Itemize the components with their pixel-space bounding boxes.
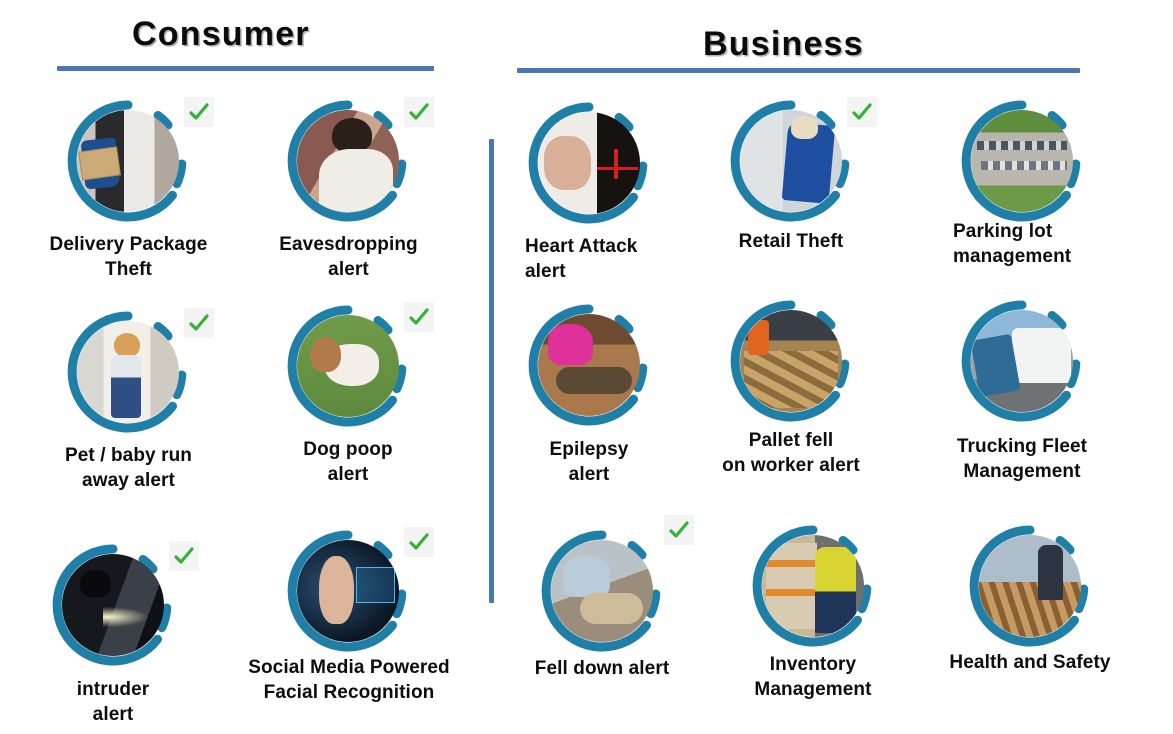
tile-label: intruder alert [38,677,188,727]
pallet-photo [740,310,842,412]
tile-label: Inventory Management [718,652,908,702]
tile-label: Heart Attack alert [525,234,700,284]
tile-dog-poop-alert[interactable]: Dog poop alert [286,304,410,428]
badge-wrap [286,99,410,223]
tile-label: Pet / baby run away alert [36,443,221,493]
tile-label: Eavesdropping alert [261,232,436,282]
heart-attack-photo [538,112,640,214]
badge-wrap [540,529,664,653]
badge-wrap [51,543,175,667]
check-icon [404,527,434,557]
tile-label: Health and Safety [916,650,1144,675]
badge-wrap [968,524,1092,648]
badge-wrap [960,99,1084,223]
child-door-photo [77,321,179,423]
check-icon [404,97,434,127]
tile-label: Trucking Fleet Management [932,434,1112,484]
check-icon [169,541,199,571]
tile-delivery-package-theft[interactable]: Delivery Package Theft [66,99,190,223]
tile-label: Delivery Package Theft [31,232,226,282]
check-icon [847,97,877,127]
dog-photo [297,315,399,417]
tile-label: Retail Theft [717,229,865,254]
inventory-photo [762,535,864,637]
section-title-consumer: Consumer [132,15,310,54]
check-icon [404,302,434,332]
column-divider [489,139,494,603]
tile-label: Pallet fell on worker alert [697,428,885,478]
trucking-fleet-photo [971,310,1073,412]
tile-label: Epilepsy alert [514,437,664,487]
badge-wrap [527,303,651,427]
tile-label: Parking lot management [953,219,1153,269]
badge-wrap [66,310,190,434]
check-icon [664,515,694,545]
tile-epilepsy-alert[interactable]: Epilepsy alert [527,303,651,427]
check-icon [184,97,214,127]
tile-heart-attack-alert[interactable]: Heart Attack alert [527,101,651,225]
check-icon [184,308,214,338]
tile-label: Fell down alert [516,656,688,681]
tile-retail-theft[interactable]: Retail Theft [729,99,853,223]
badge-wrap [729,99,853,223]
badge-wrap [527,101,651,225]
tile-health-and-safety[interactable]: Health and Safety [968,524,1092,648]
tile-parking-lot-management[interactable]: Parking lot management [960,99,1084,223]
intruder-photo [62,554,164,656]
tile-trucking-fleet-management[interactable]: Trucking Fleet Management [960,299,1084,423]
section-rule-consumer [57,66,434,71]
tile-pet-baby-runaway-alert[interactable]: Pet / baby run away alert [66,310,190,434]
tile-intruder-alert[interactable]: intruder alert [51,543,175,667]
badge-wrap [286,529,410,653]
slide-canvas: Consumer Business Delivery Package Theft [0,0,1173,734]
badge-wrap [286,304,410,428]
epilepsy-photo [538,314,640,416]
badge-wrap [751,524,875,648]
tile-inventory-management[interactable]: Inventory Management [751,524,875,648]
tile-eavesdropping-alert[interactable]: Eavesdropping alert [286,99,410,223]
facial-recognition-photo [297,540,399,642]
retail-theft-photo [740,110,842,212]
badge-wrap [66,99,190,223]
eavesdropping-photo [297,110,399,212]
section-title-business: Business [703,25,864,64]
badge-wrap [729,299,853,423]
tile-fell-down-alert[interactable]: Fell down alert [540,529,664,653]
section-rule-business [517,68,1080,73]
parking-lot-photo [971,110,1073,212]
package-theft-photo [77,110,179,212]
tile-social-media-facial-recognition[interactable]: Social Media Powered Facial Recognition [286,529,410,653]
health-safety-photo [979,535,1081,637]
tile-label: Social Media Powered Facial Recognition [229,655,469,705]
badge-wrap [960,299,1084,423]
fell-down-photo [551,540,653,642]
tile-label: Dog poop alert [273,437,423,487]
tile-pallet-fell-alert[interactable]: Pallet fell on worker alert [729,299,853,423]
